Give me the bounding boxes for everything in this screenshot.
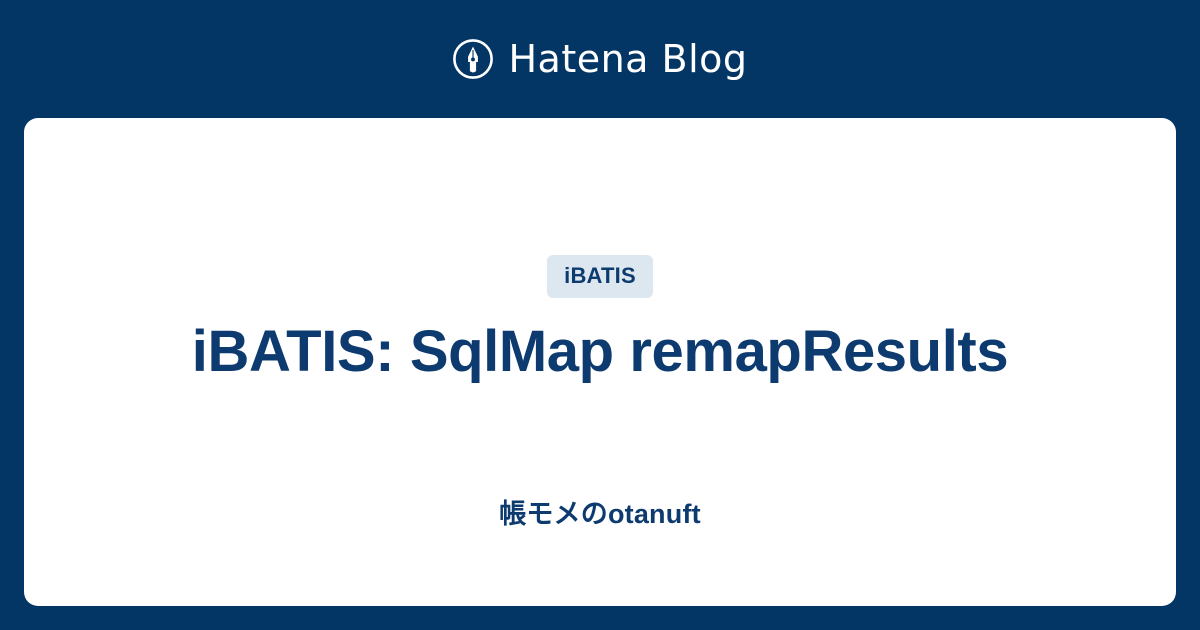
entry-card-content: iBATIS iBATIS: SqlMap remapResults 帳モメのo…	[24, 118, 1176, 531]
ogp-card-root: Hatena Blog iBATIS iBATIS: SqlMap remapR…	[0, 0, 1200, 630]
pen-nib-circle-icon	[452, 38, 494, 80]
category-tag-row: iBATIS	[547, 255, 653, 298]
hatena-blog-brand-header: Hatena Blog	[0, 0, 1200, 118]
entry-card: iBATIS iBATIS: SqlMap remapResults 帳モメのo…	[24, 118, 1176, 606]
blog-name-label[interactable]: 帳モメのotanuft	[499, 498, 701, 530]
entry-title: iBATIS: SqlMap remapResults	[192, 319, 1008, 385]
brand-name-label: Hatena Blog	[508, 40, 747, 78]
category-tag[interactable]: iBATIS	[547, 255, 653, 298]
blog-name-row: 帳モメのotanuft	[64, 498, 1136, 530]
